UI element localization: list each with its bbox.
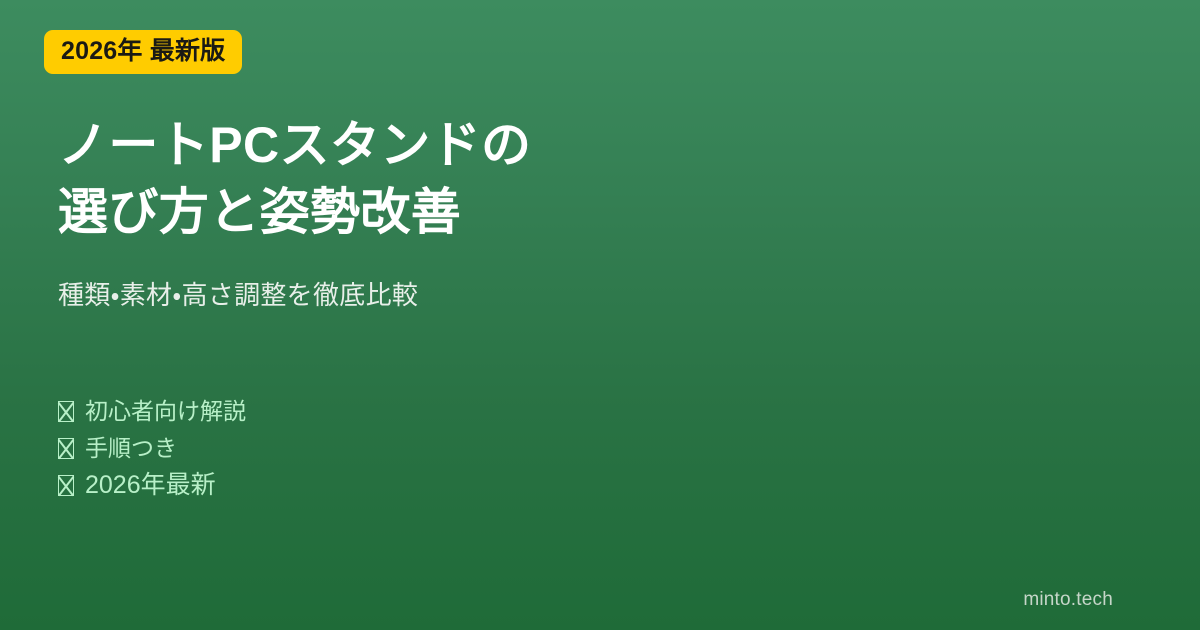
page-title: ノートPCスタンドの 選び方と姿勢改善 (58, 112, 1156, 245)
page-subtitle: 種類・素材・高さ調整を徹底比較 (58, 278, 1156, 313)
page-title-line-1: ノートPCスタンドの (58, 112, 1156, 179)
list-item: 2026年最新 (58, 467, 1156, 504)
feature-list: 初心者向け解説 手順つき 2026年最新 (58, 393, 1156, 504)
status-badge: 2026年 最新版 (44, 30, 242, 74)
list-item-label: 初心者向け解説 (85, 399, 246, 424)
missing-glyph-box-icon (58, 401, 74, 422)
page-title-line-2: 選び方と姿勢改善 (58, 179, 1156, 246)
missing-glyph-box-icon (58, 475, 74, 496)
list-item: 手順つき (58, 430, 1156, 467)
og-card: 2026年 最新版 ノートPCスタンドの 選び方と姿勢改善 種類・素材・高さ調整… (0, 0, 1200, 630)
site-watermark: minto.tech (1023, 589, 1113, 612)
list-item: 初心者向け解説 (58, 393, 1156, 430)
list-item-label: 2026年最新 (85, 472, 216, 500)
list-item-label: 手順つき (85, 436, 177, 461)
missing-glyph-box-icon (58, 438, 74, 459)
